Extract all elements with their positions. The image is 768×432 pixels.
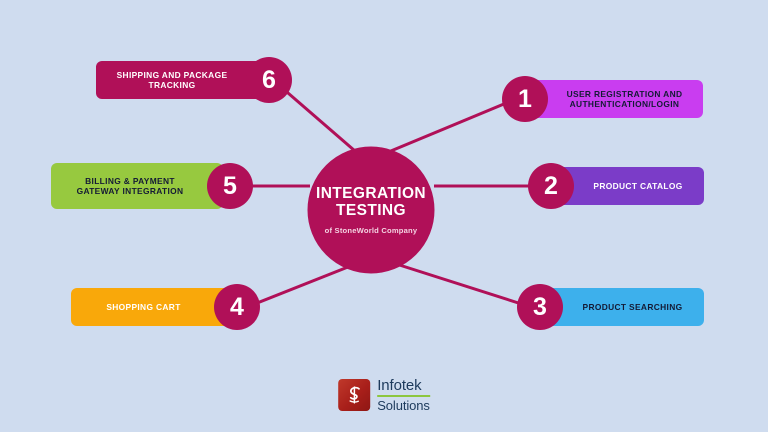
hub-center: INTEGRATION TESTING of StoneWorld Compan… bbox=[309, 148, 433, 272]
branch-label-5[interactable]: BILLING & PAYMENT GATEWAY INTEGRATION bbox=[51, 163, 223, 209]
branch-item-1[interactable]: 1 USER REGISTRATION AND AUTHENTICATION/L… bbox=[502, 76, 703, 122]
logo-wordmark: Infotek Solutions bbox=[377, 378, 430, 412]
connector-line-3 bbox=[390, 262, 531, 307]
logo-name: Infotek bbox=[377, 378, 430, 397]
branch-badge-1[interactable]: 1 bbox=[502, 76, 548, 122]
connector-line-1 bbox=[386, 99, 516, 153]
branch-label-6[interactable]: SHIPPING AND PACKAGE TRACKING bbox=[96, 61, 262, 99]
branch-badge-5[interactable]: 5 bbox=[207, 163, 253, 209]
branch-item-5[interactable]: 5 BILLING & PAYMENT GATEWAY INTEGRATION bbox=[51, 163, 253, 209]
branch-label-2[interactable]: PRODUCT CATALOG bbox=[558, 167, 704, 205]
hub-title: INTEGRATION TESTING bbox=[316, 185, 426, 220]
branch-badge-3[interactable]: 3 bbox=[517, 284, 563, 330]
branch-label-4[interactable]: SHOPPING CART bbox=[71, 288, 230, 326]
branch-label-1[interactable]: USER REGISTRATION AND AUTHENTICATION/LOG… bbox=[532, 80, 703, 118]
connector-line-4 bbox=[247, 265, 353, 307]
branch-item-3[interactable]: 3 PRODUCT SEARCHING bbox=[517, 284, 704, 330]
logo-mark-icon bbox=[338, 379, 370, 411]
hub-subtitle: of StoneWorld Company bbox=[325, 226, 418, 235]
hub-title-line-1: INTEGRATION bbox=[316, 185, 426, 202]
branch-item-2[interactable]: 2 PRODUCT CATALOG bbox=[528, 163, 704, 209]
branch-item-4[interactable]: 4 SHOPPING CART bbox=[71, 284, 260, 330]
branch-badge-2[interactable]: 2 bbox=[528, 163, 574, 209]
branch-label-3[interactable]: PRODUCT SEARCHING bbox=[547, 288, 704, 326]
hub-title-line-2: TESTING bbox=[316, 202, 426, 219]
branch-badge-6[interactable]: 6 bbox=[246, 57, 292, 103]
branch-item-6[interactable]: 6 SHIPPING AND PACKAGE TRACKING bbox=[96, 57, 292, 103]
logo-tagline: Solutions bbox=[377, 399, 430, 412]
stylized-s-monogram-icon bbox=[343, 384, 365, 406]
infographic-canvas: INTEGRATION TESTING of StoneWorld Compan… bbox=[0, 0, 768, 432]
footer-logo: Infotek Solutions bbox=[338, 378, 430, 412]
branch-badge-4[interactable]: 4 bbox=[214, 284, 260, 330]
